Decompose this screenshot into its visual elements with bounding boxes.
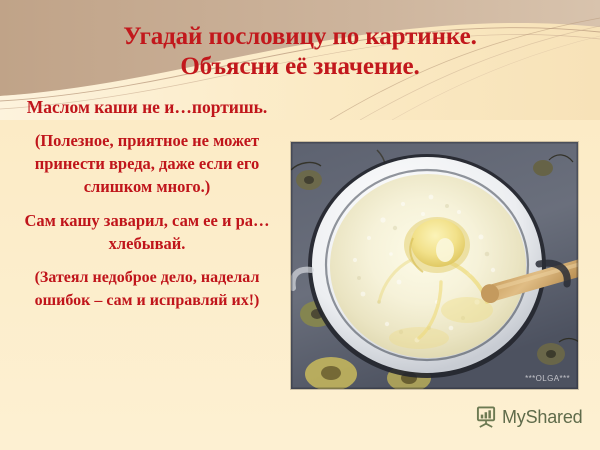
presentation-slide: Угадай пословицу по картинке. Объясни её…	[0, 0, 600, 450]
myshared-logo-text: MyShared	[502, 407, 582, 427]
presentation-chart-icon	[476, 406, 497, 428]
proverb-text-column: Маслом каши не и…портишь. (Полезное, при…	[6, 96, 288, 312]
myshared-logo[interactable]: MyShared	[476, 406, 582, 428]
title-line-1: Угадай пословицу по картинке.	[14, 22, 586, 52]
porridge-photo: ***OLGA***	[291, 142, 578, 389]
porridge-photo-graphic	[291, 142, 578, 389]
proverb-1: Маслом каши не и…портишь.	[6, 96, 288, 119]
title-line-2: Объясни её значение.	[14, 52, 586, 82]
slide-title: Угадай пословицу по картинке. Объясни её…	[14, 22, 586, 82]
proverb-2: Сам кашу заварил, сам ее и ра…хлебывай.	[6, 209, 288, 255]
explanation-2: (Затеял недоброе дело, наделал ошибок – …	[6, 266, 288, 312]
photo-watermark: ***OLGA***	[525, 374, 570, 383]
explanation-1: (Полезное, приятное не может принести вр…	[6, 129, 288, 198]
